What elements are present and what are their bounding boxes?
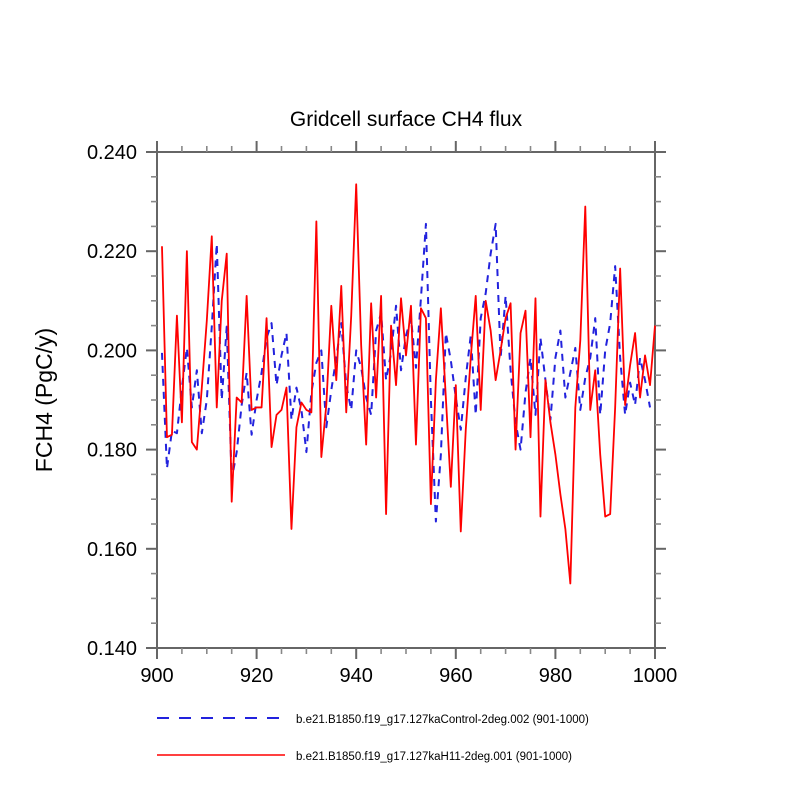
y-axis-title: FCH4 (PgC/y): [31, 328, 57, 472]
ch4-flux-line-chart: Gridcell surface CH4 flux 90092094096098…: [0, 0, 800, 800]
x-tick-label: 940: [340, 665, 373, 687]
x-tick-label: 920: [240, 665, 273, 687]
y-tick-label: 0.180: [87, 440, 137, 462]
chart-figure: Gridcell surface CH4 flux 90092094096098…: [0, 0, 800, 800]
chart-title: Gridcell surface CH4 flux: [290, 108, 523, 131]
y-tick-label: 0.160: [87, 539, 137, 561]
y-tick-label: 0.220: [87, 241, 137, 263]
legend-label-1: b.e21.B1850.f19_g17.127kaH11-2deg.001 (9…: [296, 751, 572, 763]
y-tick-label: 0.240: [87, 142, 137, 164]
y-tick-label: 0.140: [87, 638, 137, 660]
x-tick-label: 900: [140, 665, 173, 687]
legend-label-0: b.e21.B1850.f19_g17.127kaControl-2deg.00…: [296, 714, 589, 726]
x-tick-label: 980: [539, 665, 572, 687]
x-tick-label: 960: [439, 665, 472, 687]
x-tick-label: 1000: [633, 665, 678, 687]
y-tick-label: 0.200: [87, 340, 137, 362]
